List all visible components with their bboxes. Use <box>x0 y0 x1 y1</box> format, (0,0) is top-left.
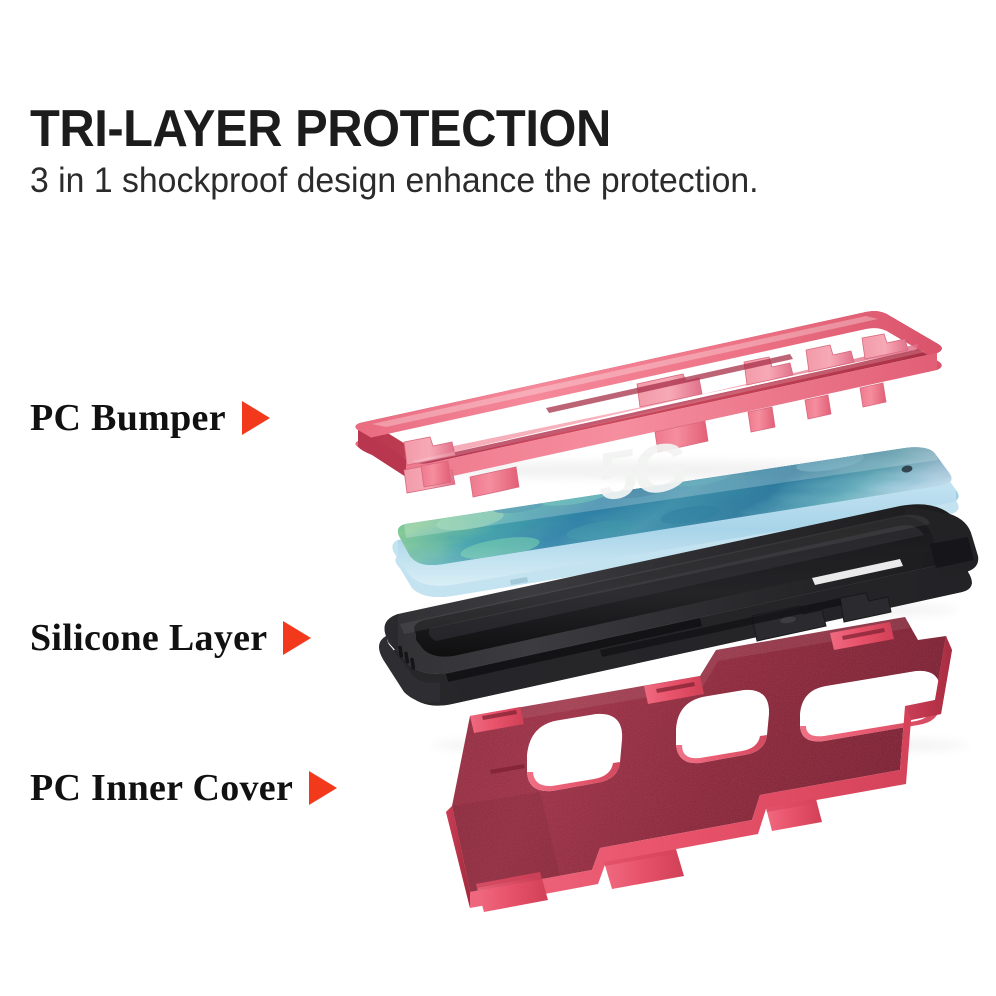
label-row-pc-inner-cover: PC Inner Cover <box>30 768 337 808</box>
page-title: TRI-LAYER PROTECTION <box>30 103 914 155</box>
layer-phone-device: 5G <box>385 427 975 597</box>
speaker-cutout <box>812 559 903 585</box>
cutout-camera <box>800 671 940 742</box>
label-pc-inner-cover: PC Inner Cover <box>30 768 293 808</box>
label-pc-bumper: PC Bumper <box>30 398 226 438</box>
layer-silicone <box>379 504 978 705</box>
page-subtitle: 3 in 1 shockproof design enhance the pro… <box>30 161 956 201</box>
front-camera-punch-hole <box>901 465 913 473</box>
cutout-left <box>527 714 622 791</box>
cutout-middle <box>676 690 769 763</box>
layer-pc-bumper <box>355 311 941 497</box>
device-5g-badge: 5G <box>598 427 684 516</box>
label-row-silicone-layer: Silicone Layer <box>30 618 311 658</box>
label-silicone-layer: Silicone Layer <box>30 618 267 658</box>
triangle-right-icon <box>309 771 337 805</box>
svg-text:5G: 5G <box>598 427 684 516</box>
layer-pc-inner-cover <box>440 610 960 912</box>
triangle-right-icon <box>242 401 270 435</box>
volume-button <box>706 541 777 559</box>
label-row-pc-bumper: PC Bumper <box>30 398 270 438</box>
triangle-right-icon <box>283 621 311 655</box>
power-button <box>806 527 864 543</box>
